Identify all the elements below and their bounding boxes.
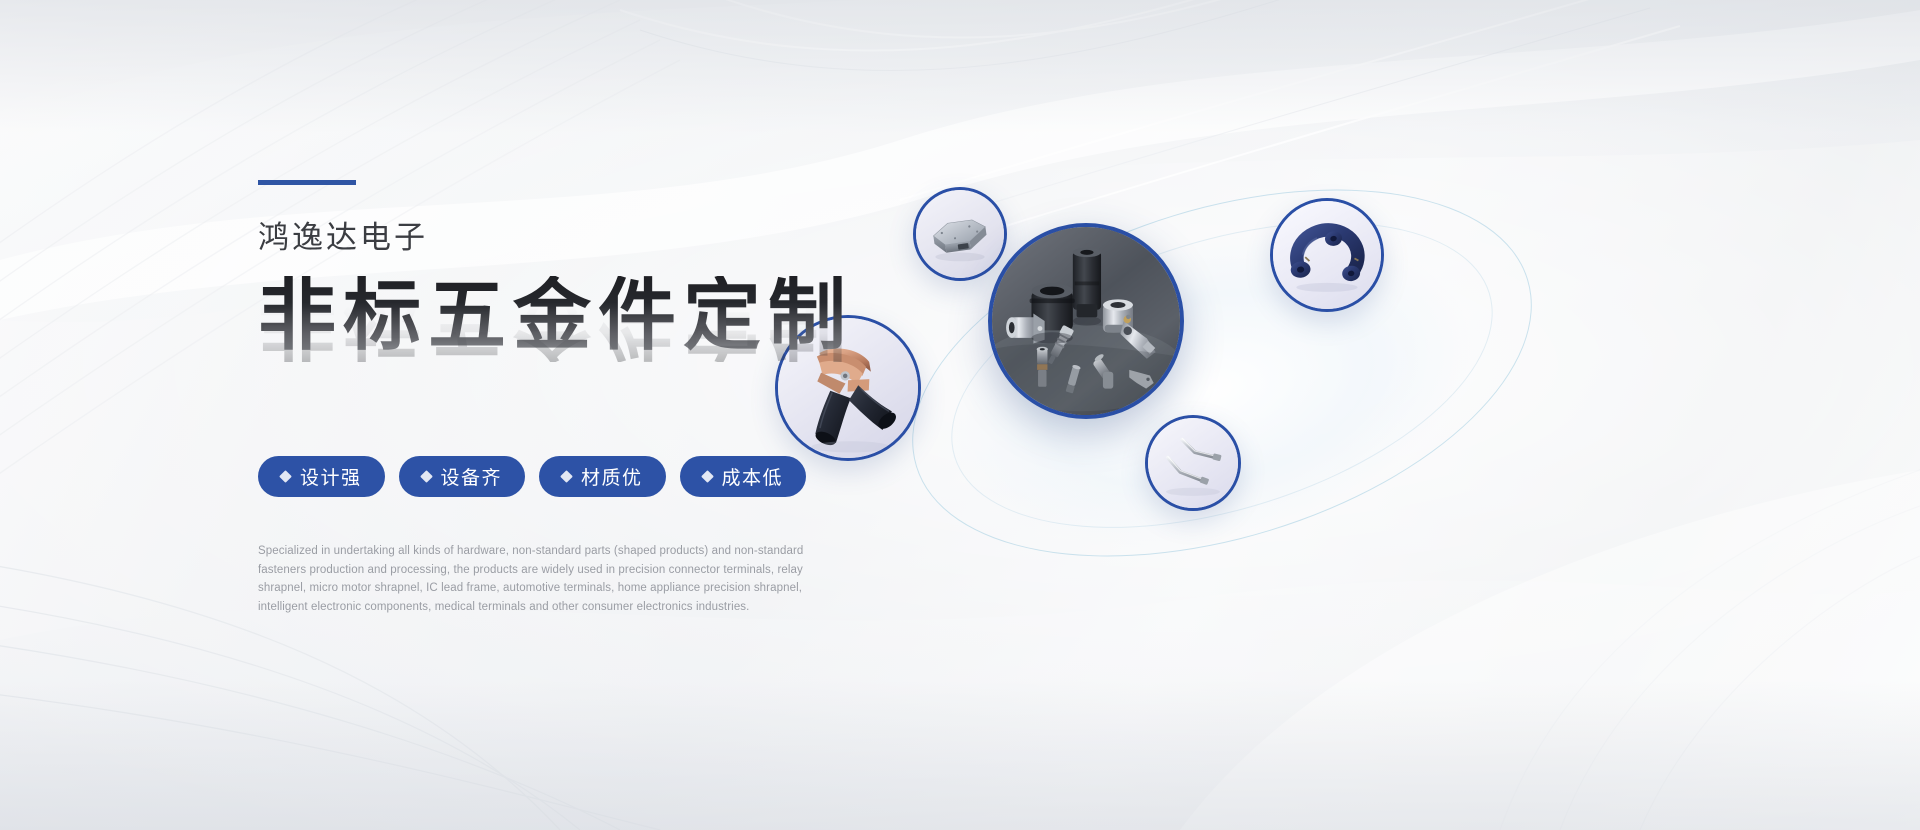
brand-name: 鸿逸达电子	[258, 219, 1018, 256]
company-description: Specialized in undertaking all kinds of …	[258, 542, 828, 617]
diamond-icon	[701, 470, 714, 483]
feature-tag-design[interactable]: 设计强	[258, 456, 385, 497]
feature-tag-list: 设计强 设备齐 材质优 成本低	[258, 456, 1018, 497]
page-title: 非标五金件定制	[258, 276, 1018, 354]
product-bubble-terminal-pins[interactable]	[1145, 415, 1241, 511]
feature-tag-label: 材质优	[581, 463, 643, 490]
hero-banner: 鸿逸达电子 非标五金件定制 非标五金件定制 设计强 设备齐 材质优 成本低	[0, 0, 1920, 830]
feature-tag-equipment[interactable]: 设备齐	[399, 456, 526, 497]
hero-content: 鸿逸达电子 非标五金件定制 非标五金件定制 设计强 设备齐 材质优 成本低	[258, 180, 1018, 617]
feature-tag-label: 成本低	[722, 463, 784, 490]
accent-rule	[258, 180, 356, 185]
headline-wrapper: 非标五金件定制 非标五金件定制	[258, 276, 1018, 398]
feature-tag-cost[interactable]: 成本低	[680, 456, 807, 497]
diamond-icon	[560, 470, 573, 483]
diamond-icon	[420, 470, 433, 483]
feature-tag-label: 设备齐	[441, 463, 503, 490]
feature-tag-material[interactable]: 材质优	[539, 456, 666, 497]
diamond-icon	[279, 470, 292, 483]
product-bubble-retaining-ring[interactable]	[1270, 198, 1384, 312]
feature-tag-label: 设计强	[300, 463, 362, 490]
